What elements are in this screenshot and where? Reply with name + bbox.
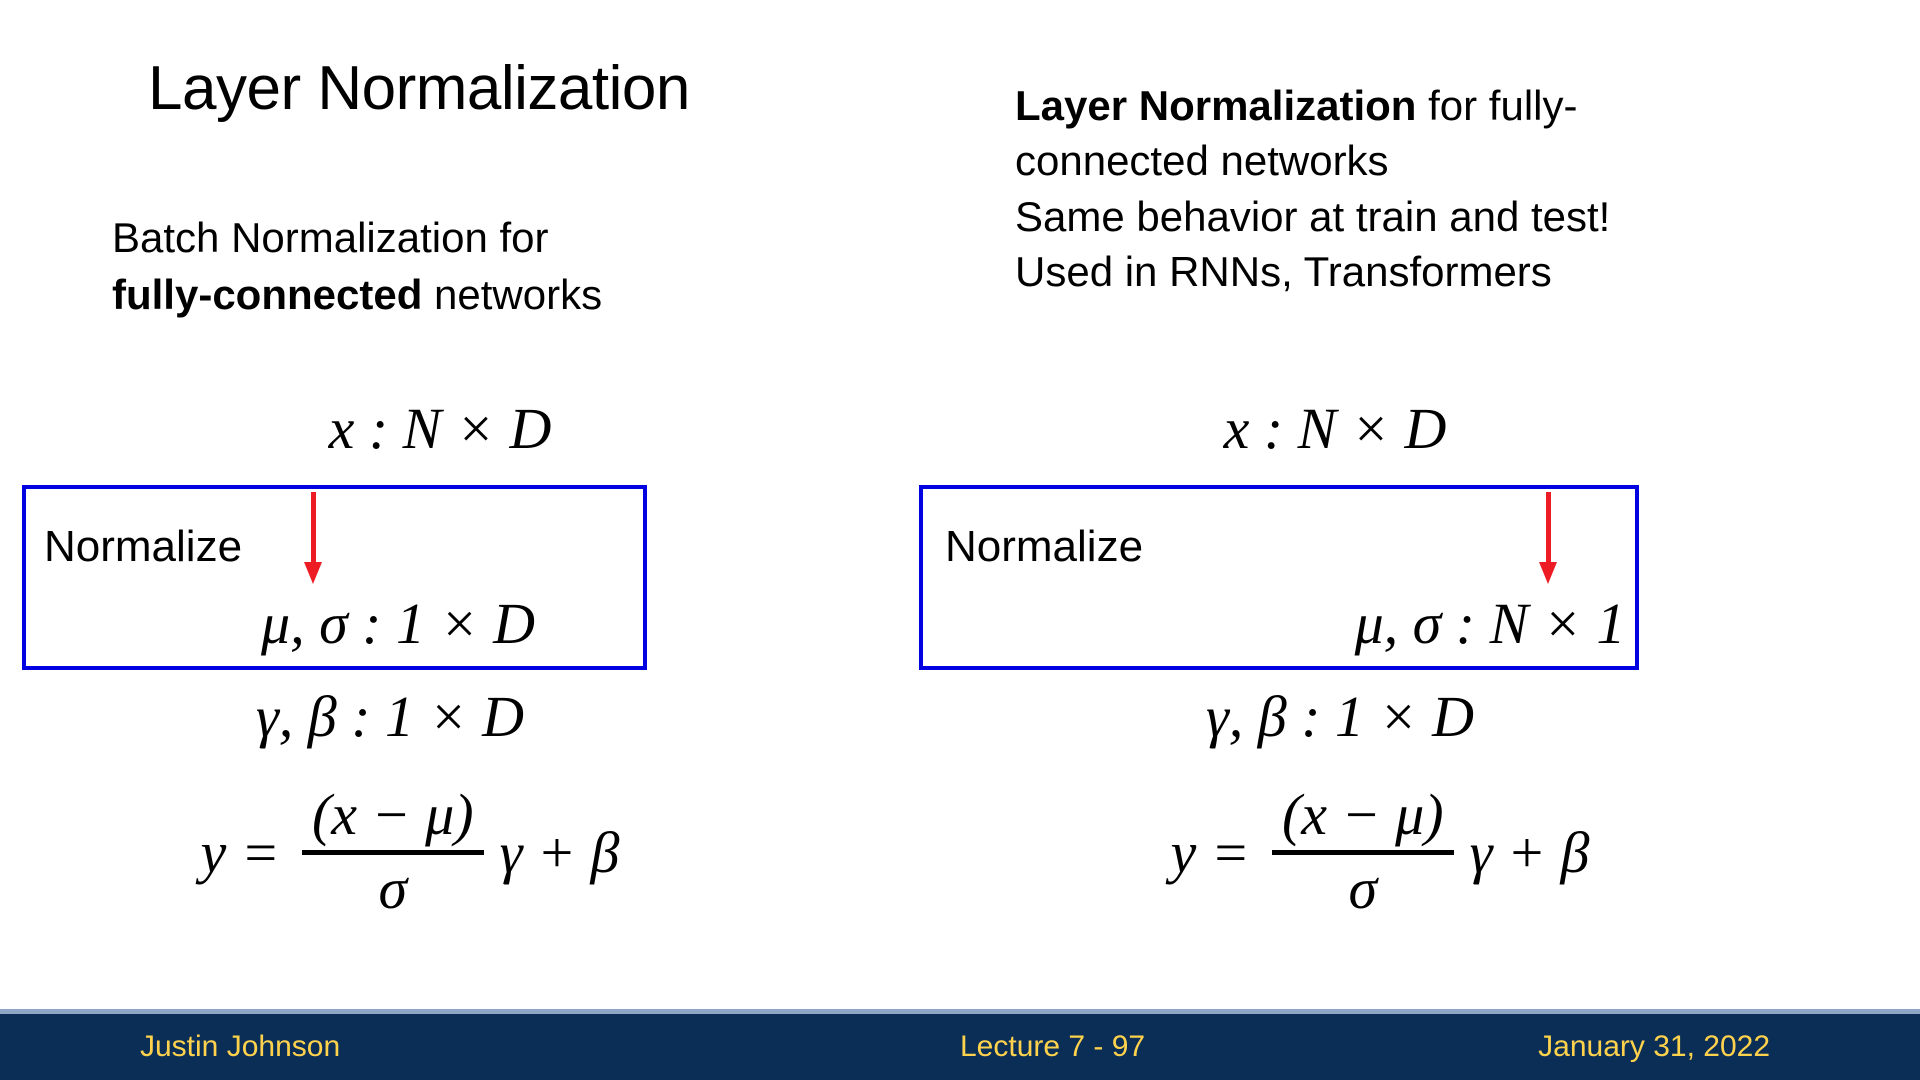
right-caption-line-4: Used in RNNs, Transformers xyxy=(1015,244,1825,299)
left-down-arrow-icon xyxy=(300,492,326,584)
left-arrow-shaft xyxy=(311,492,316,566)
slide-canvas: Layer Normalization Batch Normalization … xyxy=(0,0,1920,1080)
right-arrow-shaft xyxy=(1546,492,1551,566)
right-arrow-head xyxy=(1539,562,1557,584)
footer-lecture: Lecture 7 - 97 xyxy=(960,1030,1145,1064)
right-equation: y = (x − μ) σ γ + β xyxy=(905,785,1780,920)
left-equation-denominator: σ xyxy=(378,855,407,920)
left-caption-bold: fully-connected xyxy=(112,271,422,318)
right-caption-line-2: connected networks xyxy=(1015,133,1825,188)
right-caption-bold: Layer Normalization xyxy=(1015,82,1416,129)
left-equation: y = (x − μ) σ γ + β xyxy=(0,785,790,920)
footer-author: Justin Johnson xyxy=(140,1030,340,1064)
footer-date: January 31, 2022 xyxy=(1538,1030,1770,1064)
left-normalize-label: Normalize xyxy=(44,525,242,569)
right-caption-line-1-rest: for fully- xyxy=(1416,82,1577,129)
left-caption-line-2-rest: networks xyxy=(422,271,602,318)
right-params-shape: γ, β : 1 × D xyxy=(905,688,1740,746)
right-equation-fraction: (x − μ) σ xyxy=(1272,785,1454,920)
right-caption-line-1: Layer Normalization for fully- xyxy=(1015,78,1825,133)
slide-footer: Justin Johnson Lecture 7 - 97 January 31… xyxy=(0,1009,1920,1080)
right-input-shape: x : N × D xyxy=(905,400,1735,458)
left-caption-line-1: Batch Normalization for xyxy=(112,210,752,267)
left-equation-fraction: (x − μ) σ xyxy=(302,785,484,920)
left-stats-shape: μ, σ : 1 × D xyxy=(0,595,778,653)
right-caption-line-3: Same behavior at train and test! xyxy=(1015,189,1825,244)
left-input-shape: x : N × D xyxy=(0,400,820,458)
right-caption-block: Layer Normalization for fully- connected… xyxy=(1015,78,1825,300)
right-equation-rhs: γ + β xyxy=(1470,819,1590,886)
left-caption-line-2: fully-connected networks xyxy=(112,267,752,324)
left-arrow-head xyxy=(304,562,322,584)
right-equation-denominator: σ xyxy=(1348,855,1377,920)
right-stats-shape: μ, σ : N × 1 xyxy=(905,595,1890,653)
left-equation-numerator: (x − μ) xyxy=(302,785,484,850)
left-equation-rhs: γ + β xyxy=(500,819,620,886)
right-equation-numerator: (x − μ) xyxy=(1272,785,1454,850)
right-normalize-label: Normalize xyxy=(945,525,1143,569)
left-params-shape: γ, β : 1 × D xyxy=(0,688,770,746)
page-title: Layer Normalization xyxy=(148,56,690,121)
left-equation-lhs: y = xyxy=(201,819,280,886)
left-caption-block: Batch Normalization for fully-connected … xyxy=(112,210,752,323)
right-equation-lhs: y = xyxy=(1171,819,1250,886)
right-down-arrow-icon xyxy=(1535,492,1561,584)
